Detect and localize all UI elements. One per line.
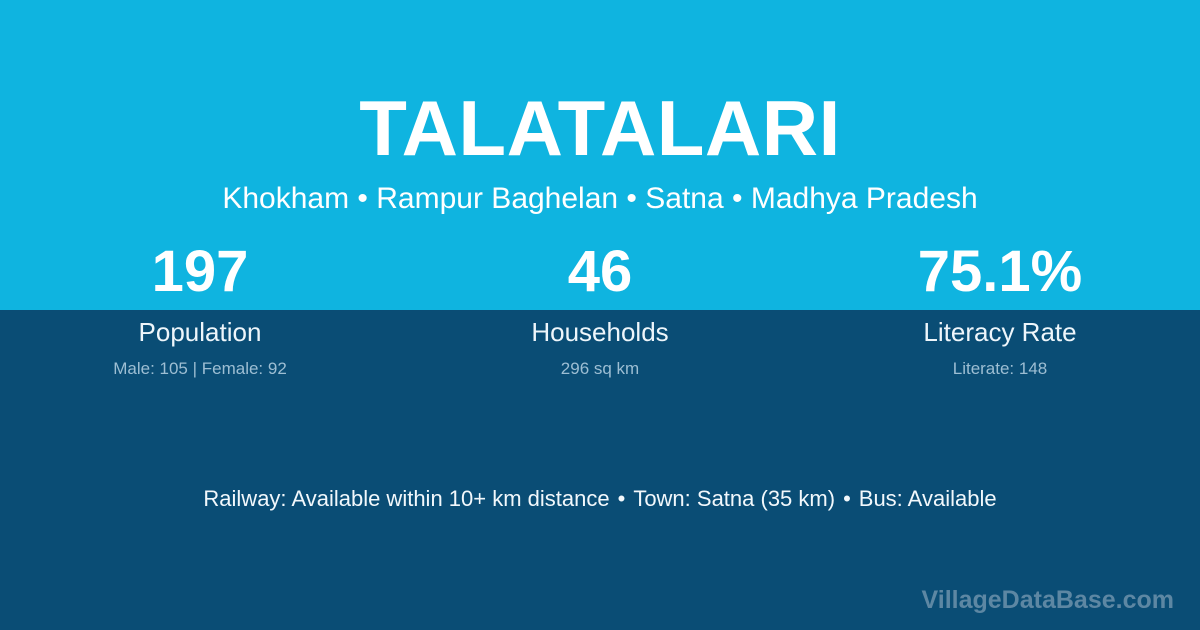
stat-subtext: Male: 105 | Female: 92	[0, 358, 400, 380]
stat-label: Population	[0, 316, 400, 348]
stat-value: 197	[0, 240, 400, 310]
amenity-separator: •	[835, 486, 859, 511]
site-brand: VillageDataBase.com	[922, 584, 1174, 616]
stat-households: 46 Households 296 sq km	[400, 240, 800, 380]
stat-value: 75.1%	[800, 240, 1200, 310]
amenity-town: Town: Satna (35 km)	[633, 486, 835, 511]
stat-subtext: Literate: 148	[800, 358, 1200, 380]
amenity-railway: Railway: Available within 10+ km distanc…	[203, 486, 609, 511]
stat-label: Households	[400, 316, 800, 348]
stat-label: Literacy Rate	[800, 316, 1200, 348]
amenities-line: Railway: Available within 10+ km distanc…	[0, 484, 1200, 514]
stats-row: 197 Population Male: 105 | Female: 92 46…	[0, 240, 1200, 380]
stat-value: 46	[400, 240, 800, 310]
stat-subtext: 296 sq km	[400, 358, 800, 380]
amenity-separator: •	[610, 486, 634, 511]
amenity-bus: Bus: Available	[859, 486, 997, 511]
stat-literacy-rate: 75.1% Literacy Rate Literate: 148	[800, 240, 1200, 380]
stat-population: 197 Population Male: 105 | Female: 92	[0, 240, 400, 380]
village-info-card: TALATALARI Khokham • Rampur Baghelan • S…	[0, 0, 1200, 630]
breadcrumb: Khokham • Rampur Baghelan • Satna • Madh…	[0, 180, 1200, 218]
page-title: TALATALARI	[0, 83, 1200, 173]
